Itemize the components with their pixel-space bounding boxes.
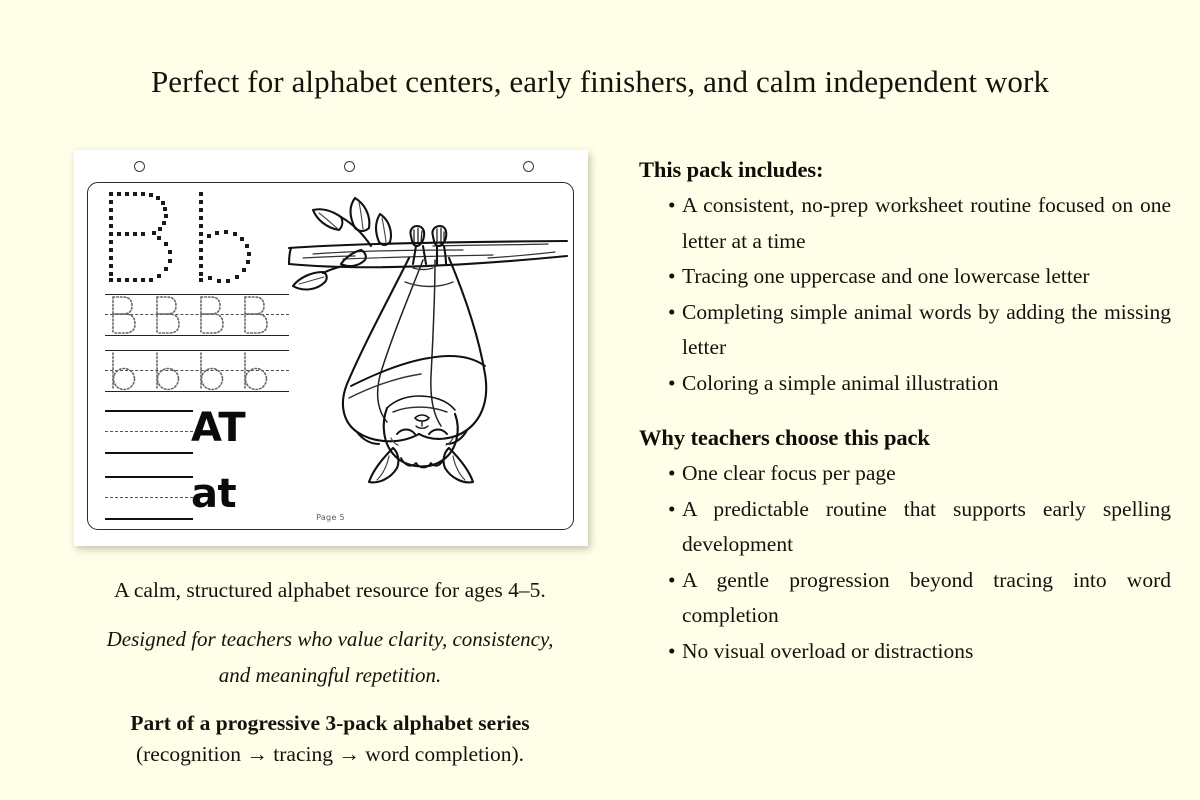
tracing-row-uppercase <box>105 294 289 336</box>
list-item: • A consistent, no-prep worksheet routin… <box>639 188 1171 259</box>
list-item-label: A predictable routine that supports earl… <box>682 492 1171 563</box>
list-item: • One clear focus per page <box>639 456 1171 492</box>
tracing-glyphs-uppercase <box>105 294 289 336</box>
tracing-row-lowercase <box>105 350 289 392</box>
list-item-label: Coloring a simple animal illustration <box>682 366 1171 402</box>
rule-line-middle <box>105 497 193 498</box>
bullet-dot-icon: • <box>668 259 676 295</box>
lead-description: A calm, structured alphabet resource for… <box>30 575 630 605</box>
bullet-dot-icon: • <box>668 188 676 224</box>
worksheet-content: AT at <box>87 182 574 530</box>
designed-for-note: Designed for teachers who value clarity,… <box>30 621 630 693</box>
list-item: • A gentle progression beyond tracing in… <box>639 563 1171 634</box>
list-item: • Tracing one uppercase and one lowercas… <box>639 259 1171 295</box>
list-item-label: A gentle progression beyond tracing into… <box>682 563 1171 634</box>
dotted-letter-bb <box>107 188 277 286</box>
rule-line-top <box>105 410 193 412</box>
list-item: • A predictable routine that supports ea… <box>639 492 1171 563</box>
series-subtitle: (recognition → tracing → word completion… <box>30 738 630 771</box>
blank-writing-lines <box>105 408 193 454</box>
word-suffix-uppercase: AT <box>191 402 245 454</box>
rule-line-middle <box>105 431 193 432</box>
rule-line-top <box>105 476 193 478</box>
bullet-dot-icon: • <box>668 634 676 670</box>
list-item-label: No visual overload or distractions <box>682 634 1171 670</box>
left-copy-block: A calm, structured alphabet resource for… <box>30 575 630 771</box>
list-item-label: One clear focus per page <box>682 456 1171 492</box>
binder-hole-icon <box>523 161 534 172</box>
binder-holes <box>74 150 588 178</box>
tracing-glyphs-lowercase <box>105 350 289 392</box>
includes-list: • A consistent, no-prep worksheet routin… <box>639 188 1171 401</box>
right-column: This pack includes: • A consistent, no-p… <box>639 155 1171 669</box>
binder-hole-icon <box>344 161 355 172</box>
list-item: • No visual overload or distractions <box>639 634 1171 670</box>
bullet-dot-icon: • <box>668 456 676 492</box>
worksheet-page-label: Page 5 <box>87 513 574 522</box>
bullet-dot-icon: • <box>668 492 676 528</box>
list-item: • Completing simple animal words by addi… <box>639 295 1171 366</box>
list-item-label: A consistent, no-prep worksheet routine … <box>682 188 1171 259</box>
bat-illustration <box>283 186 573 486</box>
includes-heading: This pack includes: <box>639 155 1171 185</box>
why-heading: Why teachers choose this pack <box>639 423 1171 453</box>
bullet-dot-icon: • <box>668 295 676 331</box>
rule-line-bottom <box>105 452 193 454</box>
left-column: AT at <box>30 140 630 540</box>
bullet-dot-icon: • <box>668 563 676 599</box>
page-headline: Perfect for alphabet centers, early fini… <box>0 62 1200 102</box>
bullet-dot-icon: • <box>668 366 676 402</box>
list-item-label: Tracing one uppercase and one lowercase … <box>682 259 1171 295</box>
list-item: • Coloring a simple animal illustration <box>639 366 1171 402</box>
list-item-label: Completing simple animal words by adding… <box>682 295 1171 366</box>
worksheet-preview[interactable]: AT at <box>74 140 590 540</box>
binder-hole-icon <box>134 161 145 172</box>
series-title: Part of a progressive 3-pack alphabet se… <box>30 709 630 738</box>
why-list: • One clear focus per page • A predictab… <box>639 456 1171 669</box>
